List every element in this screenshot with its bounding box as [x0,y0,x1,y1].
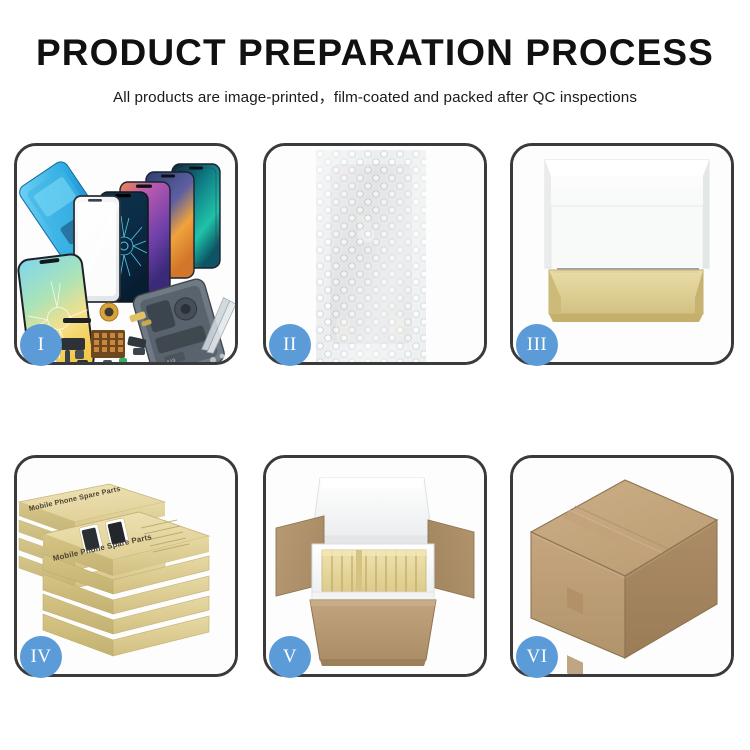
header: PRODUCT PREPARATION PROCESS All products… [0,0,750,107]
process-step-grid: A13 [14,143,736,677]
step-badge-6: VI [516,636,558,678]
step-badge-4: IV [20,636,62,678]
process-step-panel-4[interactable]: Mobile Phone Spare Parts Mobile Phone Sp… [14,455,238,677]
process-step-panel-2[interactable]: II [263,143,487,365]
step-badge-2: II [269,324,311,366]
process-step-panel-1[interactable]: A13 [14,143,238,365]
process-step-panel-5[interactable]: V [263,455,487,677]
plastic-sheen [316,150,426,362]
page-title: PRODUCT PREPARATION PROCESS [0,0,750,73]
page-subtitle: All products are image-printed，film-coat… [0,73,750,107]
process-step-panel-3[interactable]: III [510,143,734,365]
step-badge-5: V [269,636,311,678]
step-badge-1: I [20,324,62,366]
process-step-panel-6[interactable]: VI [510,455,734,677]
step-badge-3: III [516,324,558,366]
